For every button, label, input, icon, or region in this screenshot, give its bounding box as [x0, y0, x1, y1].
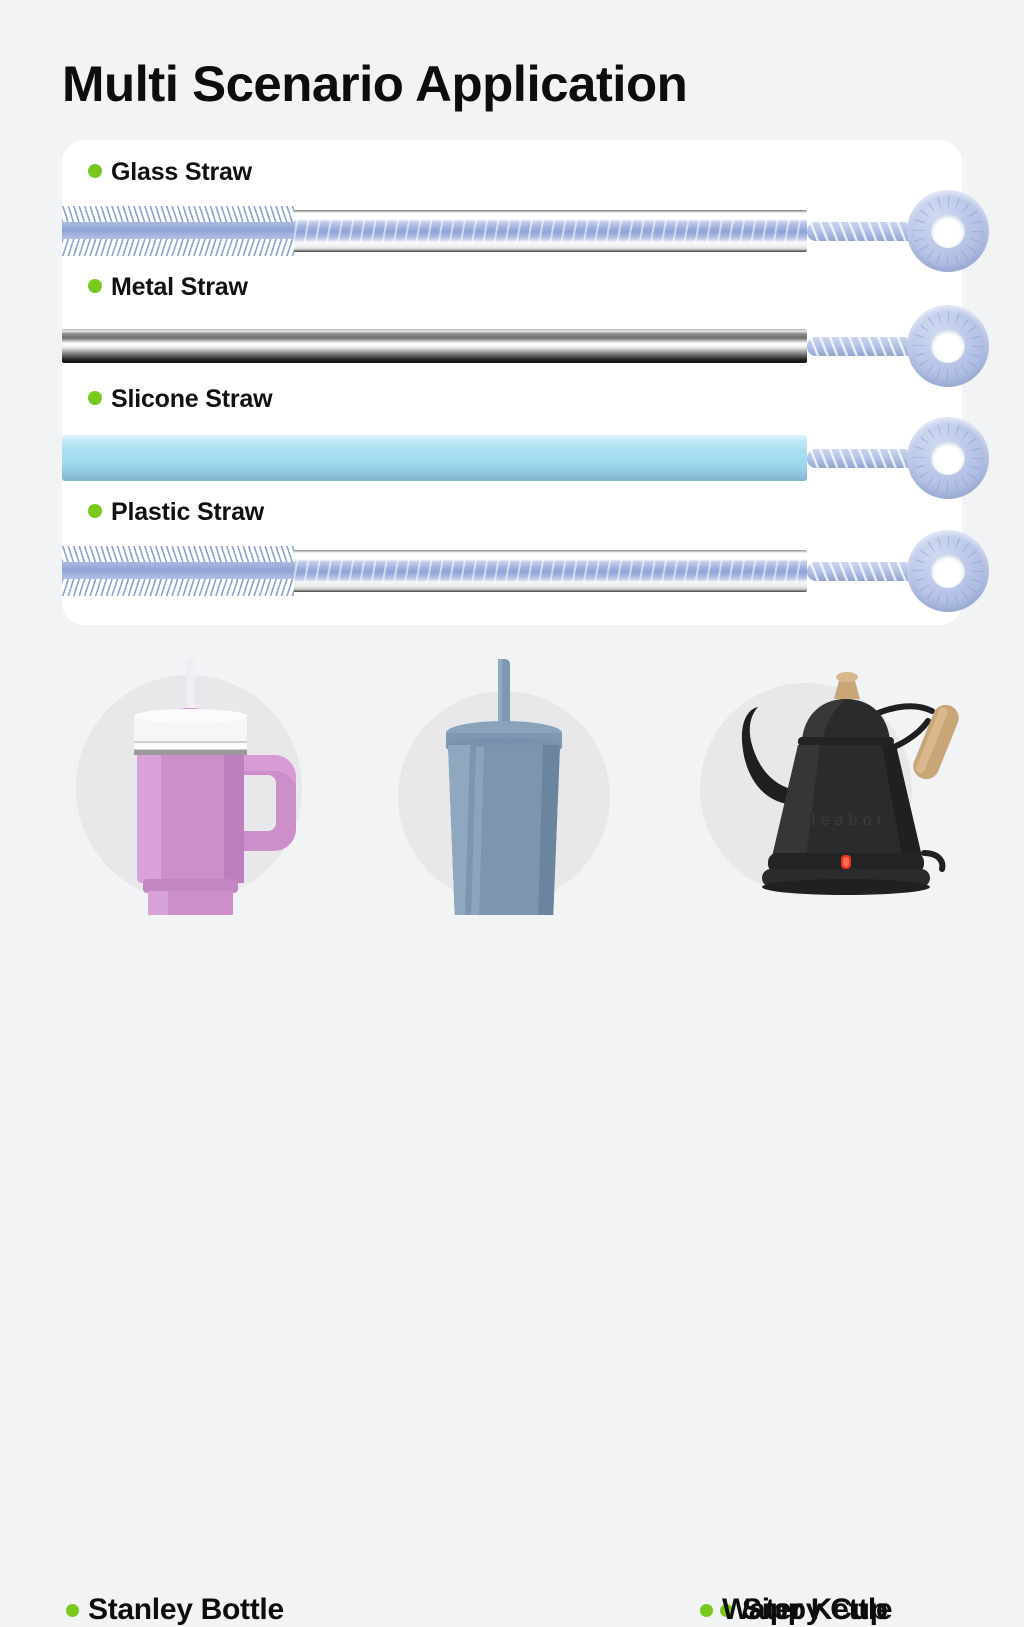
product-stanley-bottle: Stanley Bottle — [62, 655, 382, 905]
ring-grip-texture — [907, 305, 989, 387]
brush-wire-stem — [807, 449, 920, 468]
ring-grip-texture — [907, 417, 989, 499]
svg-text:l e a b o t: l e a b o t — [812, 812, 883, 829]
brush-wire-stem — [807, 337, 920, 356]
bullet-icon — [88, 391, 102, 405]
straw-illustration-metal — [62, 311, 962, 381]
straw-illustration-plastic — [62, 536, 962, 606]
straw-illustration-glass — [62, 196, 962, 266]
straw-comparison-card: Glass Straw Metal Straw Slicone Straw — [62, 140, 962, 625]
ring-grip-texture — [907, 190, 989, 272]
stanley-bottle-illustration — [62, 655, 382, 915]
sippy-cup-illustration — [380, 655, 700, 915]
brush-bristles — [62, 546, 294, 596]
water-kettle-illustration: l e a b o t — [686, 655, 1024, 905]
product-sippy-cup: Sippy Cup — [380, 655, 700, 905]
straw-row-label-metal: Metal Straw — [88, 273, 248, 302]
brush-wire-stem — [807, 222, 920, 241]
ring-grip-texture — [907, 530, 989, 612]
brush-ring-handle — [907, 417, 989, 499]
product-caption-stanley: Stanley Bottle — [66, 1593, 284, 1627]
bullet-icon — [88, 504, 102, 518]
page-title: Multi Scenario Application — [62, 58, 687, 111]
brush-ring-handle — [907, 530, 989, 612]
product-caption-kettle: Water Kettle — [700, 1593, 892, 1627]
metal-tube — [62, 329, 807, 363]
straw-row-label-plastic: Plastic Straw — [88, 498, 264, 527]
bullet-icon — [700, 1604, 713, 1617]
brush-wire-stem — [807, 562, 920, 581]
brush-bristles — [62, 206, 294, 256]
silicone-tube — [62, 435, 807, 481]
brush-ring-handle — [907, 305, 989, 387]
straw-row-label-glass: Glass Straw — [88, 158, 252, 187]
bullet-icon — [88, 164, 102, 178]
straw-illustration-silicone — [62, 423, 962, 493]
product-water-kettle: l e a b o t Water Kettle — [686, 655, 1024, 905]
bullet-icon — [88, 279, 102, 293]
bullet-icon — [66, 1604, 79, 1617]
straw-row-label-silicone: Slicone Straw — [88, 385, 272, 414]
brush-ring-handle — [907, 190, 989, 272]
